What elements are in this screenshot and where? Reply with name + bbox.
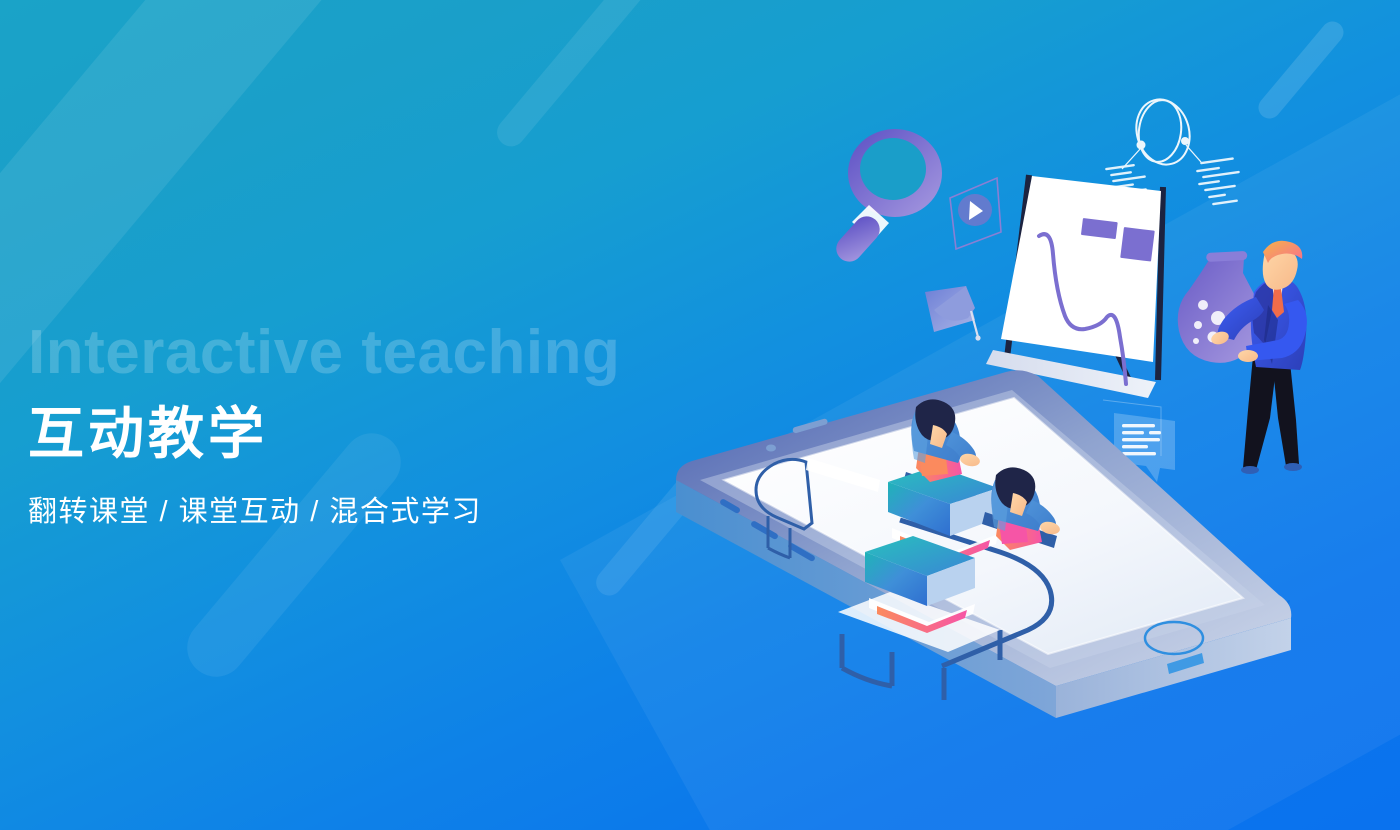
banner-text-block: Interactive teaching 互动教学 翻转课堂 / 课堂互动 / … (28, 322, 620, 530)
video-play-icon (950, 178, 1001, 249)
banner-subtitle: 翻转课堂 / 课堂互动 / 混合式学习 (28, 488, 620, 530)
camera-dot (766, 445, 776, 452)
magnifier-icon (831, 129, 942, 267)
ghost-title: Interactive teaching (28, 322, 620, 384)
whiteboard-easel (986, 175, 1163, 398)
interactive-teaching-banner: Interactive teaching 互动教学 翻转课堂 / 课堂互动 / … (0, 0, 1400, 830)
graduation-cap-icon (925, 286, 981, 341)
page-title: 互动教学 (28, 402, 620, 466)
teacher-figure (1178, 241, 1307, 474)
